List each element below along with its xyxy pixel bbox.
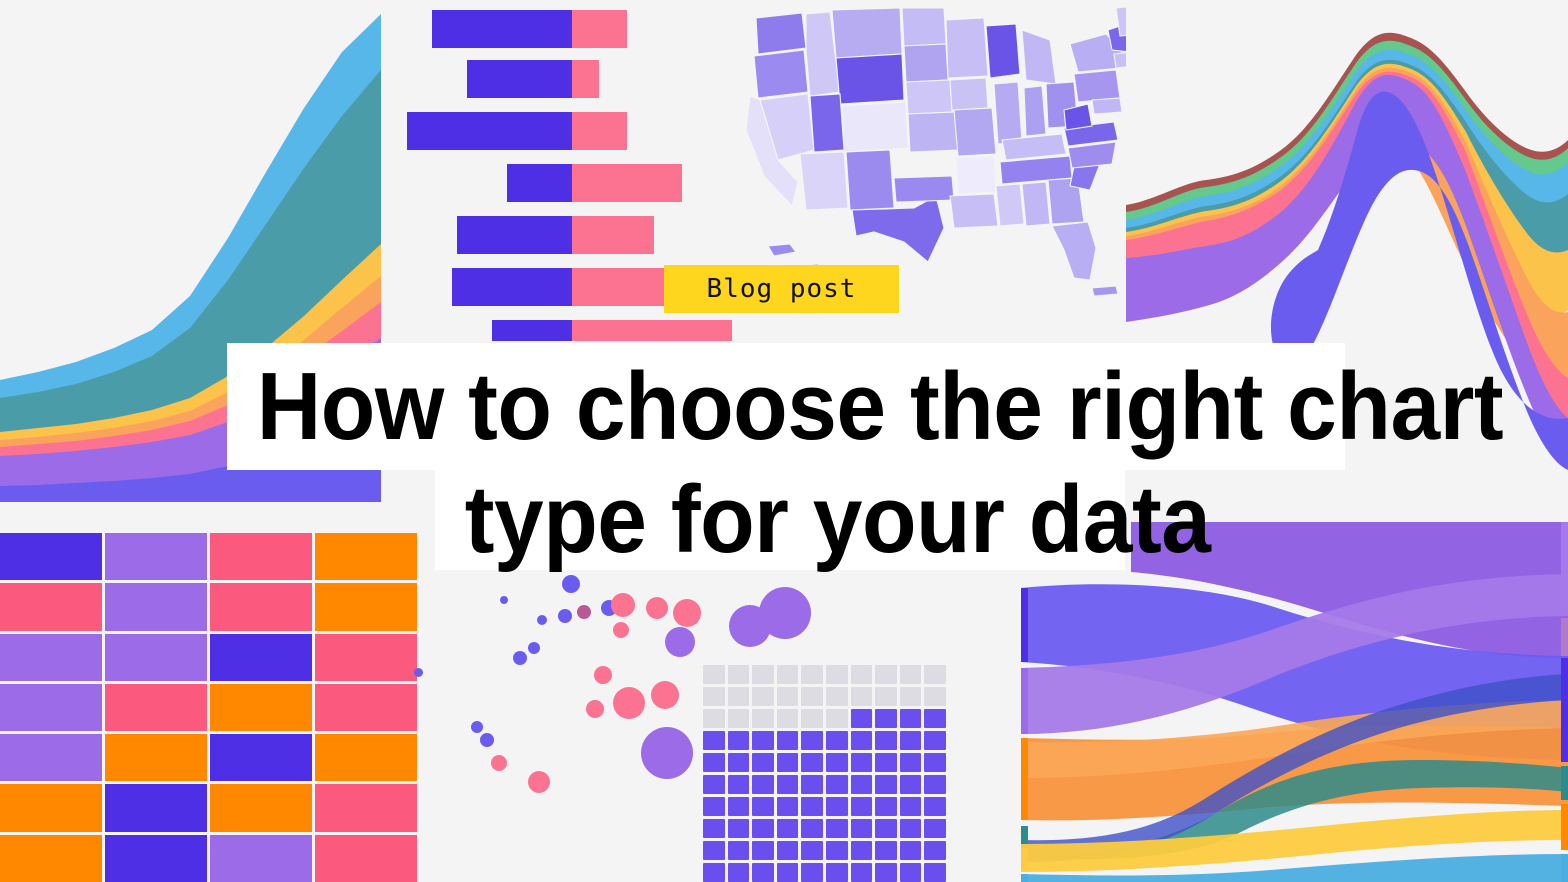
heatmap-cell-r6-c3 bbox=[210, 784, 312, 831]
heatmap-cell-r3-c4 bbox=[315, 634, 417, 681]
heatmap-cell-r4-c4 bbox=[315, 684, 417, 731]
waffle-cell-74 bbox=[777, 819, 799, 838]
waffle-cell-37 bbox=[851, 731, 873, 750]
page-title-line-1: How to choose the right chart bbox=[227, 359, 1503, 455]
heatmap-cell-r2-c3 bbox=[210, 583, 312, 630]
waffle-cell-59 bbox=[900, 775, 922, 794]
bubble-point-19 bbox=[665, 627, 695, 657]
waffle-cell-11 bbox=[703, 687, 725, 706]
bar-right-1 bbox=[572, 10, 627, 48]
waffle-cell-57 bbox=[851, 775, 873, 794]
bubble-point-13 bbox=[480, 733, 494, 747]
waffle-cell-3 bbox=[752, 665, 774, 684]
bubble-point-16 bbox=[611, 593, 635, 617]
bar-right-3 bbox=[572, 112, 627, 150]
bubble-point-7 bbox=[613, 622, 629, 638]
waffle-cell-89 bbox=[900, 841, 922, 860]
blog-post-badge-label: Blog post bbox=[707, 274, 857, 304]
state-wa bbox=[756, 13, 806, 54]
waffle-cell-92 bbox=[728, 863, 750, 882]
waffle-cell-80 bbox=[924, 819, 946, 838]
bubble-point-18 bbox=[673, 599, 701, 627]
bubble-point-12 bbox=[471, 721, 483, 733]
waffle-cell-43 bbox=[752, 753, 774, 772]
state-ms bbox=[996, 184, 1024, 226]
state-ma bbox=[1114, 52, 1126, 68]
waffle-cell-24 bbox=[777, 709, 799, 728]
heatmap-cell-r2-c1 bbox=[0, 583, 102, 630]
stray-bubble-dot bbox=[414, 668, 423, 677]
waffle-cell-8 bbox=[875, 665, 897, 684]
heatmap-cell-r5-c1 bbox=[0, 734, 102, 781]
state-az bbox=[800, 152, 848, 210]
heatmap-cell-r6-c4 bbox=[315, 784, 417, 831]
waffle-cell-75 bbox=[801, 819, 823, 838]
state-md bbox=[1092, 98, 1122, 114]
sankey-node-left-2 bbox=[1021, 668, 1028, 734]
bar-right-2 bbox=[572, 60, 599, 98]
waffle-cell-6 bbox=[826, 665, 848, 684]
sankey-node-left-4 bbox=[1021, 826, 1028, 844]
waffle-cell-94 bbox=[777, 863, 799, 882]
waffle-cell-30 bbox=[924, 709, 946, 728]
waffle-cell-96 bbox=[826, 863, 848, 882]
state-mn bbox=[946, 18, 988, 78]
state-ks bbox=[908, 112, 958, 152]
heatmap-cell-r3-c2 bbox=[105, 634, 207, 681]
waffle-cell-64 bbox=[777, 797, 799, 816]
bubble-point-20 bbox=[651, 681, 679, 709]
blog-post-badge: Blog post bbox=[664, 265, 899, 313]
waffle-cell-36 bbox=[826, 731, 848, 750]
sankey-node-right-2 bbox=[1561, 618, 1568, 656]
sankey-node-left-3 bbox=[1021, 738, 1028, 820]
waffle-cell-85 bbox=[801, 841, 823, 860]
waffle-cell-39 bbox=[900, 731, 922, 750]
heatmap-cell-r1-c3 bbox=[210, 533, 312, 580]
sankey-node-right-5 bbox=[1561, 804, 1568, 850]
heatmap-cell-r5-c3 bbox=[210, 734, 312, 781]
heatmap-cell-r4-c2 bbox=[105, 684, 207, 731]
bubble-point-1 bbox=[500, 596, 508, 604]
waffle-cell-54 bbox=[777, 775, 799, 794]
waffle-cell-21 bbox=[703, 709, 725, 728]
waffle-cell-100 bbox=[924, 863, 946, 882]
categorical-heatmap bbox=[0, 533, 417, 882]
waffle-cell-72 bbox=[728, 819, 750, 838]
state-ut bbox=[810, 94, 844, 152]
waffle-cell-38 bbox=[875, 731, 897, 750]
heatmap-cell-r3-c1 bbox=[0, 634, 102, 681]
bubble-point-21 bbox=[613, 687, 645, 719]
heatmap-cell-r7-c2 bbox=[105, 835, 207, 882]
waffle-cell-73 bbox=[752, 819, 774, 838]
waffle-cell-58 bbox=[875, 775, 897, 794]
waffle-cell-45 bbox=[801, 753, 823, 772]
heatmap-cell-r1-c1 bbox=[0, 533, 102, 580]
waffle-cell-10 bbox=[924, 665, 946, 684]
heatmap-cell-r2-c4 bbox=[315, 583, 417, 630]
waffle-cell-22 bbox=[728, 709, 750, 728]
waffle-cell-52 bbox=[728, 775, 750, 794]
state-al bbox=[1022, 182, 1050, 226]
waffle-cell-26 bbox=[826, 709, 848, 728]
state-ok bbox=[894, 176, 954, 202]
waffle-cell-48 bbox=[875, 753, 897, 772]
state-co bbox=[842, 102, 908, 152]
heatmap-cell-r7-c4 bbox=[315, 835, 417, 882]
page-title-line-2: type for your data bbox=[435, 472, 1210, 568]
waffle-cell-77 bbox=[851, 819, 873, 838]
sankey-node-left-5 bbox=[1021, 848, 1028, 870]
waffle-cell-5 bbox=[801, 665, 823, 684]
state-ar bbox=[956, 156, 996, 194]
waffle-cell-69 bbox=[900, 797, 922, 816]
state-mo bbox=[954, 108, 996, 156]
waffle-cell-84 bbox=[777, 841, 799, 860]
waffle-cell-86 bbox=[826, 841, 848, 860]
bar-right-4 bbox=[572, 164, 682, 202]
waffle-cell-51 bbox=[703, 775, 725, 794]
waffle-cell-1 bbox=[703, 665, 725, 684]
waffle-cell-98 bbox=[875, 863, 897, 882]
waffle-cell-68 bbox=[875, 797, 897, 816]
heatmap-cell-r7-c3 bbox=[210, 835, 312, 882]
waffle-cell-87 bbox=[851, 841, 873, 860]
state-pa bbox=[1074, 70, 1120, 102]
waffle-cell-53 bbox=[752, 775, 774, 794]
heatmap-cell-r7-c1 bbox=[0, 835, 102, 882]
state-mt bbox=[832, 8, 902, 58]
bubble-point-2 bbox=[537, 615, 547, 625]
map-island-3 bbox=[1092, 286, 1118, 296]
waffle-cell-93 bbox=[752, 863, 774, 882]
state-or bbox=[754, 50, 808, 98]
waffle-cell-29 bbox=[900, 709, 922, 728]
waffle-cell-15 bbox=[801, 687, 823, 706]
bar-left-5 bbox=[457, 216, 572, 254]
waffle-cell-99 bbox=[900, 863, 922, 882]
waffle-cell-56 bbox=[826, 775, 848, 794]
waffle-cell-41 bbox=[703, 753, 725, 772]
state-la bbox=[950, 194, 998, 228]
heatmap-cell-r5-c2 bbox=[105, 734, 207, 781]
state-in bbox=[1024, 86, 1046, 136]
waffle-cell-78 bbox=[875, 819, 897, 838]
waffle-cell-19 bbox=[900, 687, 922, 706]
waffle-cell-91 bbox=[703, 863, 725, 882]
waffle-cell-31 bbox=[703, 731, 725, 750]
state-nd bbox=[902, 8, 946, 46]
bubble-point-6 bbox=[562, 575, 580, 593]
waffle-cell-81 bbox=[703, 841, 725, 860]
waffle-cell-14 bbox=[777, 687, 799, 706]
bubble-point-24 bbox=[641, 727, 693, 779]
heatmap-cell-r6-c2 bbox=[105, 784, 207, 831]
waffle-cell-32 bbox=[728, 731, 750, 750]
waffle-cell-2 bbox=[728, 665, 750, 684]
waffle-cell-4 bbox=[777, 665, 799, 684]
bubble-point-4 bbox=[577, 605, 591, 619]
waffle-cell-62 bbox=[728, 797, 750, 816]
bar-left-2 bbox=[467, 60, 572, 98]
waffle-cell-66 bbox=[826, 797, 848, 816]
bar-right-5 bbox=[572, 216, 654, 254]
waffle-cell-76 bbox=[826, 819, 848, 838]
bar-right-7 bbox=[572, 320, 732, 341]
sankey-node-left-1 bbox=[1021, 588, 1028, 662]
bubble-point-9 bbox=[513, 651, 527, 665]
sankey-node-left-6 bbox=[1021, 874, 1028, 882]
waffle-chart bbox=[703, 665, 946, 882]
waffle-cell-82 bbox=[728, 841, 750, 860]
heatmap-cell-r4-c1 bbox=[0, 684, 102, 731]
waffle-cell-60 bbox=[924, 775, 946, 794]
bubble-point-23 bbox=[759, 587, 811, 639]
waffle-cell-20 bbox=[924, 687, 946, 706]
waffle-cell-18 bbox=[875, 687, 897, 706]
heatmap-cell-r6-c1 bbox=[0, 784, 102, 831]
waffle-cell-40 bbox=[924, 731, 946, 750]
waffle-cell-61 bbox=[703, 797, 725, 816]
bubble-point-14 bbox=[491, 755, 507, 771]
waffle-cell-23 bbox=[752, 709, 774, 728]
bar-left-3 bbox=[407, 112, 572, 150]
waffle-cell-70 bbox=[924, 797, 946, 816]
bar-left-6 bbox=[452, 268, 572, 306]
state-wi bbox=[986, 24, 1020, 78]
waffle-cell-7 bbox=[851, 665, 873, 684]
waffle-cell-67 bbox=[851, 797, 873, 816]
bubble-point-3 bbox=[558, 609, 572, 623]
bubble-point-15 bbox=[528, 771, 550, 793]
waffle-cell-46 bbox=[826, 753, 848, 772]
bar-left-7 bbox=[492, 320, 572, 341]
waffle-cell-42 bbox=[728, 753, 750, 772]
waffle-cell-63 bbox=[752, 797, 774, 816]
waffle-cell-12 bbox=[728, 687, 750, 706]
waffle-grid bbox=[703, 665, 946, 882]
heatmap-cell-r3-c3 bbox=[210, 634, 312, 681]
waffle-cell-83 bbox=[752, 841, 774, 860]
waffle-cell-16 bbox=[826, 687, 848, 706]
sankey-node-right-3 bbox=[1561, 658, 1568, 762]
waffle-cell-97 bbox=[851, 863, 873, 882]
waffle-cell-50 bbox=[924, 753, 946, 772]
state-ne bbox=[906, 80, 952, 114]
heatmap-cell-r2-c2 bbox=[105, 583, 207, 630]
waffle-cell-28 bbox=[875, 709, 897, 728]
state-nm bbox=[846, 150, 894, 210]
waffle-cell-35 bbox=[801, 731, 823, 750]
waffle-cell-47 bbox=[851, 753, 873, 772]
waffle-cell-9 bbox=[900, 665, 922, 684]
bar-left-4 bbox=[507, 164, 572, 202]
heatmap-cell-r5-c4 bbox=[315, 734, 417, 781]
waffle-cell-95 bbox=[801, 863, 823, 882]
sankey-node-right-4 bbox=[1561, 766, 1568, 800]
sankey-node-right-1 bbox=[1561, 522, 1568, 614]
waffle-cell-71 bbox=[703, 819, 725, 838]
waffle-cell-55 bbox=[801, 775, 823, 794]
waffle-cell-27 bbox=[851, 709, 873, 728]
waffle-cell-34 bbox=[777, 731, 799, 750]
heatmap-cell-r1-c4 bbox=[315, 533, 417, 580]
bubble-point-10 bbox=[594, 666, 612, 684]
bar-right-6 bbox=[572, 268, 668, 306]
bubble-point-11 bbox=[586, 700, 604, 718]
state-sd bbox=[904, 44, 948, 82]
bubble-point-17 bbox=[646, 597, 668, 619]
state-wy bbox=[836, 54, 904, 104]
blog-hero-graphic: Blog post How to choose the right chart … bbox=[0, 0, 1568, 882]
state-il bbox=[994, 82, 1022, 144]
waffle-cell-49 bbox=[900, 753, 922, 772]
bubble-point-8 bbox=[528, 642, 540, 654]
waffle-cell-79 bbox=[900, 819, 922, 838]
heatmap-cell-r1-c2 bbox=[105, 533, 207, 580]
waffle-cell-13 bbox=[752, 687, 774, 706]
waffle-cell-88 bbox=[875, 841, 897, 860]
waffle-cell-25 bbox=[801, 709, 823, 728]
waffle-cell-17 bbox=[851, 687, 873, 706]
sankey-node-right-6 bbox=[1561, 854, 1568, 882]
heatmap-grid bbox=[0, 533, 417, 882]
bar-left-1 bbox=[432, 10, 572, 48]
title-line-2-box: type for your data bbox=[435, 470, 1125, 570]
state-ia bbox=[950, 78, 988, 110]
waffle-cell-33 bbox=[752, 731, 774, 750]
waffle-cell-90 bbox=[924, 841, 946, 860]
heatmap-cell-r4-c3 bbox=[210, 684, 312, 731]
waffle-cell-44 bbox=[777, 753, 799, 772]
title-line-1-box: How to choose the right chart bbox=[227, 343, 1345, 470]
waffle-cell-65 bbox=[801, 797, 823, 816]
